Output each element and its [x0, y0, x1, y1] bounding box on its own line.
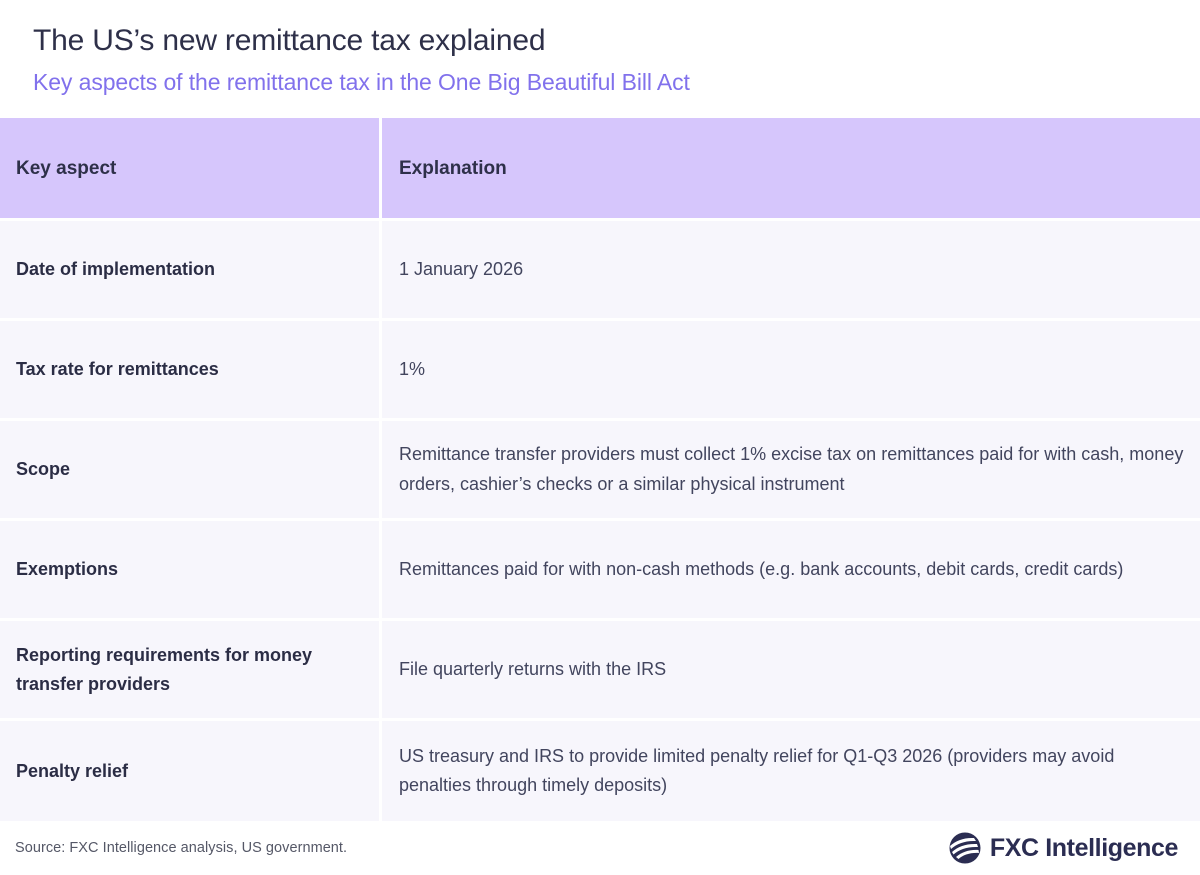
table-cell-key: Reporting requirements for money transfe… [0, 621, 382, 721]
table-cell-explanation: Remittance transfer providers must colle… [382, 421, 1200, 521]
brand-name: FXC Intelligence [990, 836, 1178, 861]
footer-block: Source: FXC Intelligence analysis, US go… [0, 821, 1200, 875]
table-row: Scope Remittance transfer providers must… [0, 421, 1200, 521]
row-key-label: Exemptions [16, 555, 118, 584]
table-cell-explanation: 1 January 2026 [382, 221, 1200, 321]
row-key-label: Penalty relief [16, 757, 128, 786]
source-note: Source: FXC Intelligence analysis, US go… [15, 840, 347, 856]
table-row: Tax rate for remittances 1% [0, 321, 1200, 421]
brand-logo: FXC Intelligence [949, 832, 1178, 864]
row-explanation-text: Remittance transfer providers must colle… [399, 440, 1184, 498]
table-cell-explanation: File quarterly returns with the IRS [382, 621, 1200, 721]
table-header-row: Key aspect Explanation [0, 118, 1200, 221]
column-header-explanation-label: Explanation [399, 157, 507, 182]
row-explanation-text: US treasury and IRS to provide limited p… [399, 742, 1184, 800]
table-cell-key: Tax rate for remittances [0, 321, 382, 421]
table-row: Reporting requirements for money transfe… [0, 621, 1200, 721]
fxc-globe-swoosh-icon [949, 832, 981, 864]
column-header-explanation: Explanation [382, 118, 1200, 221]
table-cell-key: Exemptions [0, 521, 382, 621]
key-aspects-table: Key aspect Explanation Date of implement… [0, 118, 1200, 821]
column-header-key-aspect: Key aspect [0, 118, 382, 221]
table-cell-explanation: 1% [382, 321, 1200, 421]
page-title: The US’s new remittance tax explained [33, 24, 1200, 59]
row-explanation-text: File quarterly returns with the IRS [399, 655, 666, 684]
table-cell-explanation: Remittances paid for with non-cash metho… [382, 521, 1200, 621]
table-row: Exemptions Remittances paid for with non… [0, 521, 1200, 621]
column-header-key-aspect-label: Key aspect [16, 157, 116, 182]
infographic-root: The US’s new remittance tax explained Ke… [0, 0, 1200, 875]
header-block: The US’s new remittance tax explained Ke… [0, 0, 1200, 118]
row-explanation-text: 1 January 2026 [399, 255, 523, 284]
row-key-label: Date of implementation [16, 255, 215, 284]
row-key-label: Scope [16, 455, 70, 484]
row-key-label: Reporting requirements for money transfe… [16, 641, 361, 699]
table-cell-key: Penalty relief [0, 721, 382, 821]
row-explanation-text: 1% [399, 355, 425, 384]
table-cell-explanation: US treasury and IRS to provide limited p… [382, 721, 1200, 821]
row-explanation-text: Remittances paid for with non-cash metho… [399, 555, 1123, 584]
page-subtitle: Key aspects of the remittance tax in the… [33, 69, 1200, 97]
table-row: Date of implementation 1 January 2026 [0, 221, 1200, 321]
table-row: Penalty relief US treasury and IRS to pr… [0, 721, 1200, 821]
table-cell-key: Scope [0, 421, 382, 521]
table-cell-key: Date of implementation [0, 221, 382, 321]
row-key-label: Tax rate for remittances [16, 355, 219, 384]
